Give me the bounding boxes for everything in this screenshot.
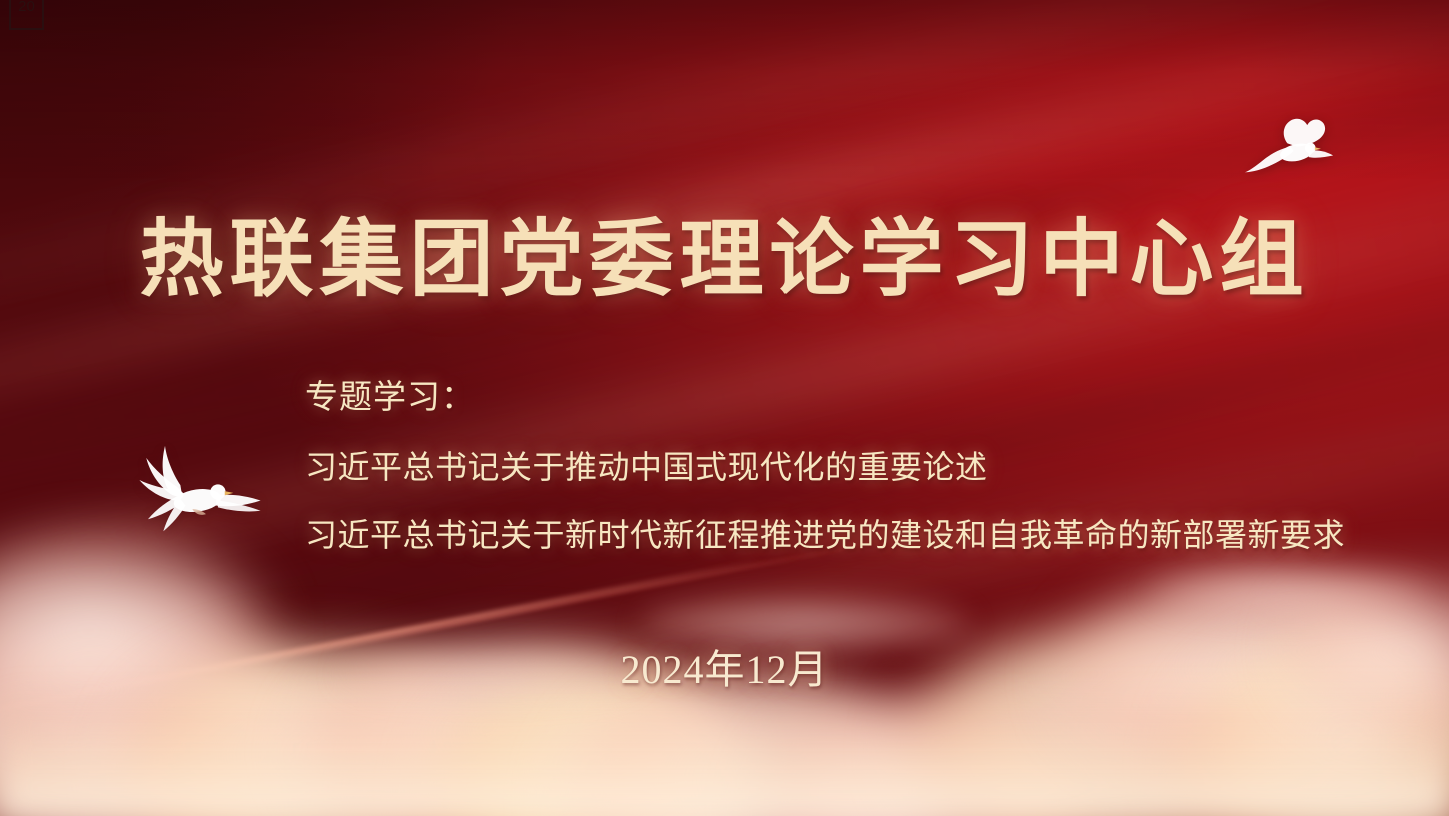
slide-number-placeholder[interactable]: 20	[9, 0, 44, 30]
topic-item: 习近平总书记关于推动中国式现代化的重要论述	[305, 442, 1345, 488]
study-topics-block: 专题学习： 习近平总书记关于推动中国式现代化的重要论述 习近平总书记关于新时代新…	[305, 370, 1345, 556]
cloud-base-glow	[0, 686, 1449, 816]
presentation-slide: 热联集团党委理论学习中心组 专题学习： 习近平总书记关于推动中国式现代化的重要论…	[0, 0, 1449, 816]
cloud-wisp	[1150, 570, 1430, 616]
slide-date: 2024年12月	[0, 637, 1449, 695]
page-title: 热联集团党委理论学习中心组	[0, 192, 1449, 313]
dove-icon	[1243, 113, 1335, 189]
dove-icon	[136, 437, 264, 547]
subject-label: 专题学习：	[305, 370, 1345, 418]
slide-number-text: 20	[18, 0, 35, 14]
topic-item: 习近平总书记关于新时代新征程推进党的建设和自我革命的新部署新要求	[305, 510, 1345, 556]
